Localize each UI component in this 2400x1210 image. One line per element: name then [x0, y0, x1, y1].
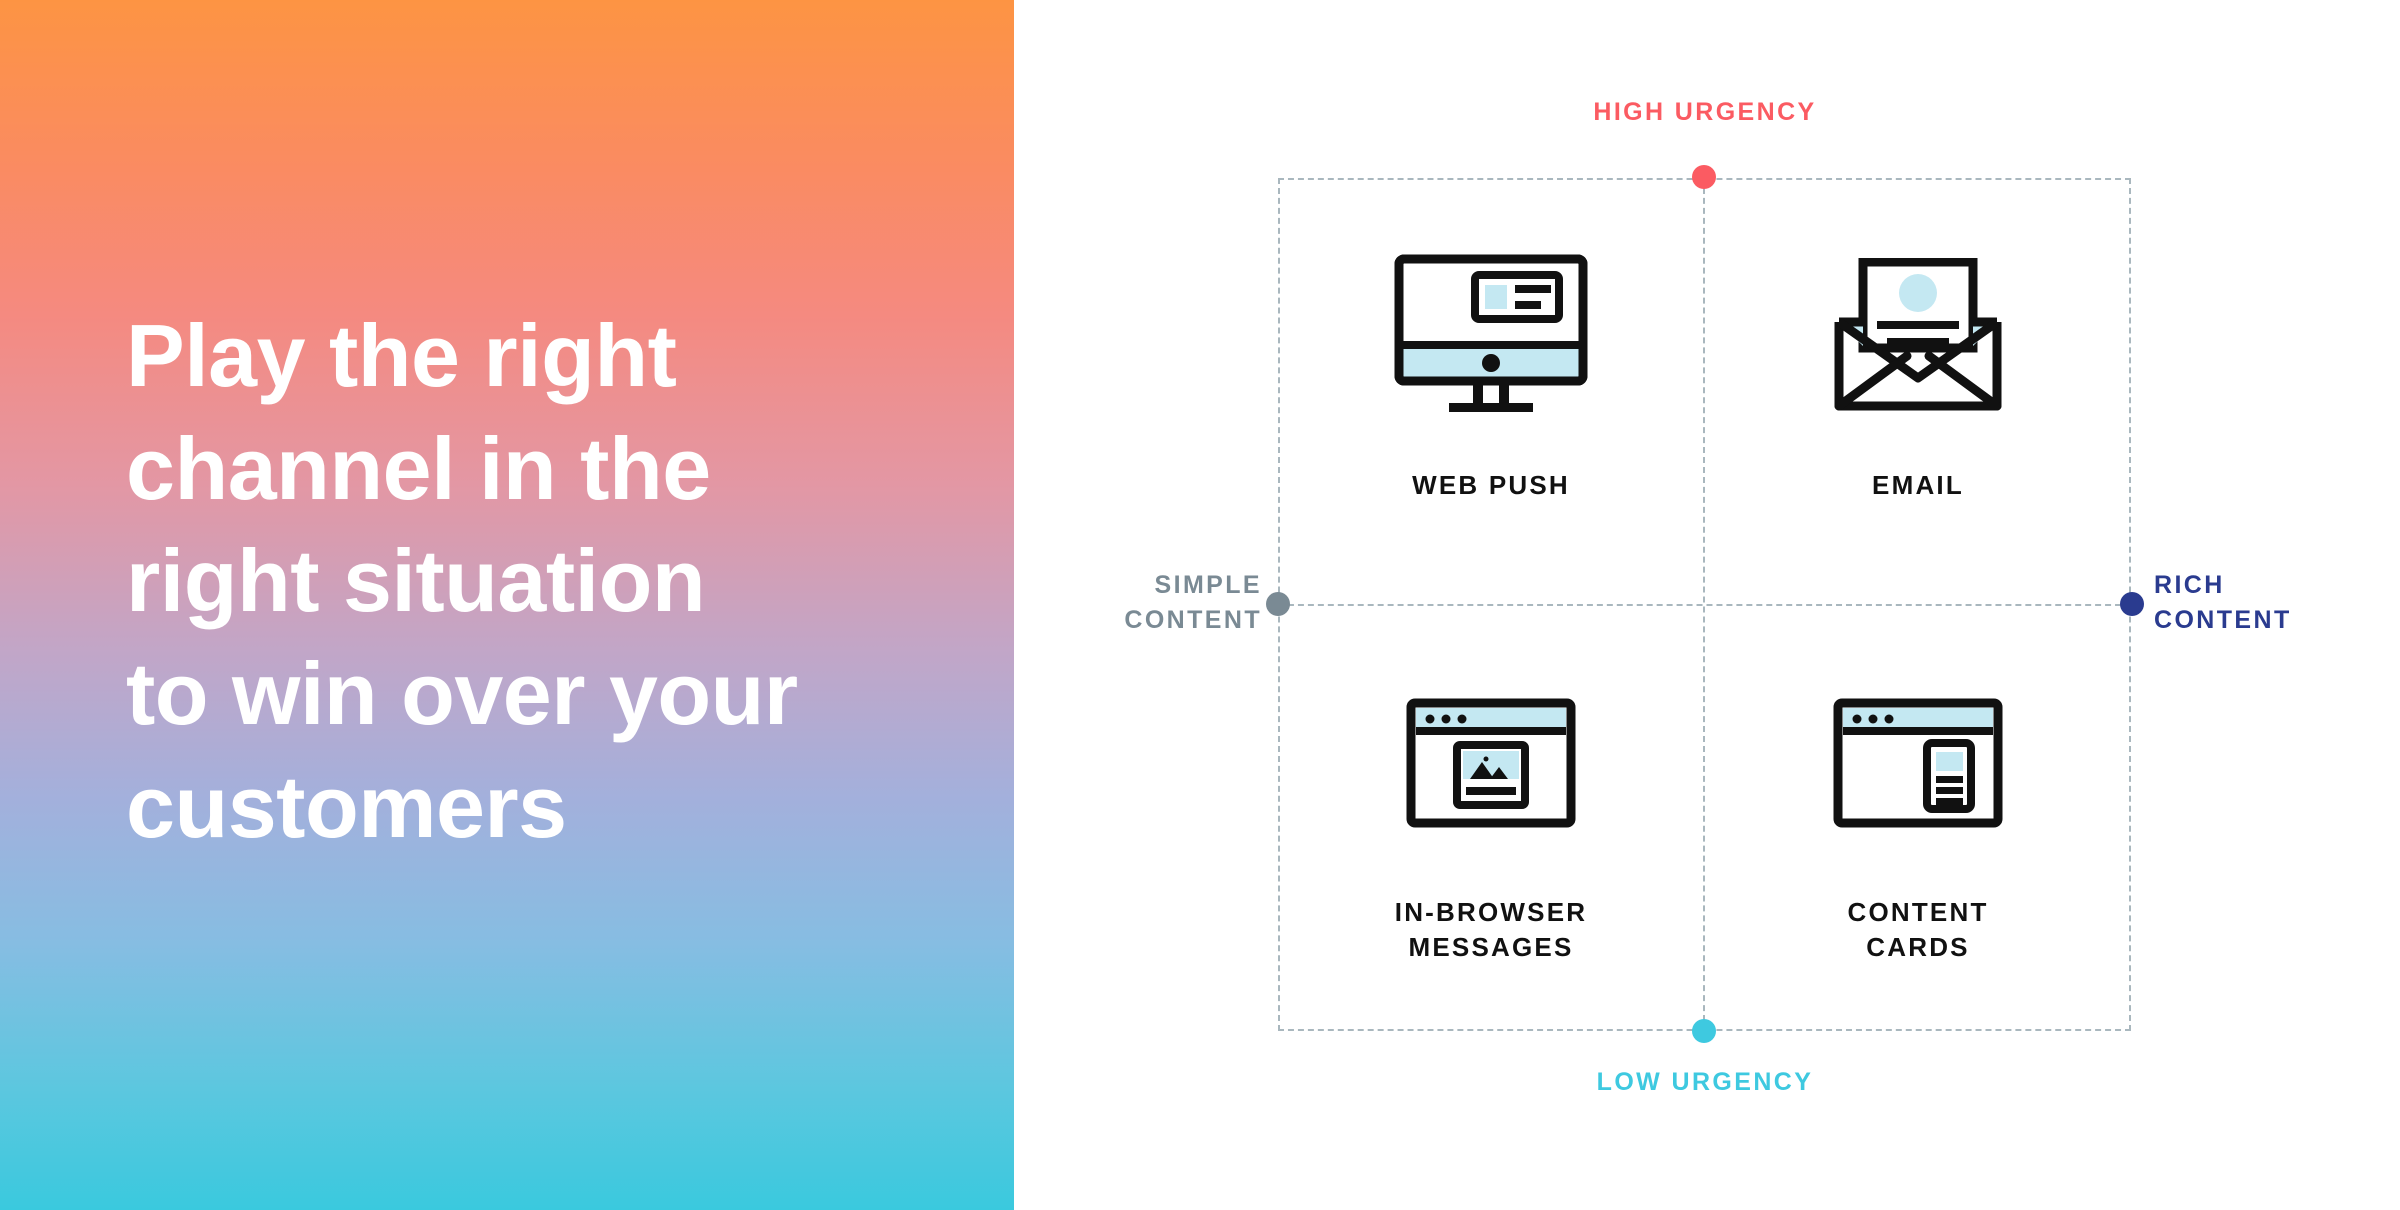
quadrant-cell-content-cards: CONTENT CARDS — [1705, 605, 2131, 1031]
browser-side-card-icon — [1833, 683, 2003, 843]
axis-label-low-urgency: LOW URGENCY — [1495, 1065, 1915, 1100]
quadrant-cell-web-push: WEB PUSH — [1278, 178, 1704, 604]
axis-label-simple-content: SIMPLE CONTENT — [962, 568, 1262, 638]
quadrant-label-in-browser-messages: IN-BROWSER MESSAGES — [1395, 895, 1587, 965]
quadrant-label-web-push: WEB PUSH — [1412, 468, 1570, 503]
monitor-notification-icon — [1391, 256, 1591, 416]
hero-headline: Play the right channel in the right situ… — [126, 300, 926, 863]
open-envelope-icon — [1829, 256, 2007, 416]
quadrant-cell-email: EMAIL — [1705, 178, 2131, 604]
quadrant-chart: HIGH URGENCY LOW URGENCY SIMPLE CONTENT … — [1014, 0, 2400, 1210]
quadrant-label-email: EMAIL — [1872, 468, 1964, 503]
infographic-page: Play the right channel in the right situ… — [0, 0, 2400, 1210]
axis-label-rich-content: RICH CONTENT — [2154, 568, 2400, 638]
quadrant-label-content-cards: CONTENT CARDS — [1847, 895, 1988, 965]
hero-gradient-panel: Play the right channel in the right situ… — [0, 0, 1014, 1210]
quadrant-cell-in-browser-messages: IN-BROWSER MESSAGES — [1278, 605, 1704, 1031]
axis-label-high-urgency: HIGH URGENCY — [1495, 95, 1915, 130]
browser-image-card-icon — [1406, 683, 1576, 843]
